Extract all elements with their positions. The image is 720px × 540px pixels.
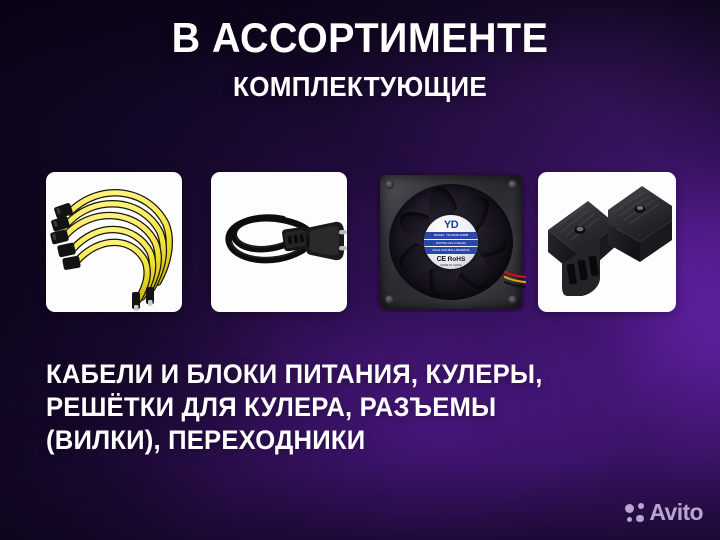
description-block: КАБЕЛИ И БЛОКИ ПИТАНИЯ, КУЛЕРЫ, РЕШЁТКИ … <box>46 358 686 457</box>
pcie-splitter-cables-image <box>46 172 182 312</box>
rohs-mark-icon: RoHS <box>448 256 466 263</box>
fan-origin-text: MADE IN CHINA <box>440 264 461 267</box>
fan-model-text: MODEL: YD12038-4080B <box>424 232 478 239</box>
power-cord-image <box>211 172 347 312</box>
fan-screw-hole <box>385 295 394 304</box>
fan-screw-hole <box>508 295 517 304</box>
fan-screw-hole <box>385 180 394 189</box>
fan-rating-text: RATING:12V 2.5A(2P) <box>424 240 478 247</box>
product-card-row: YD MODEL: YD12038-4080B RATING:12V 2.5A(… <box>46 172 676 312</box>
ce-mark-icon: CE <box>437 256 446 263</box>
description-line: КАБЕЛИ И БЛОКИ ПИТАНИЯ, КУЛЕРЫ, <box>46 358 654 391</box>
iec-connector-bodies-image <box>538 172 676 312</box>
avito-watermark: Avito <box>625 501 703 524</box>
fan-bore: YD MODEL: YD12038-4080B RATING:12V 2.5A(… <box>389 184 513 300</box>
banner-image: В АССОРТИМЕНТЕ КОМПЛЕКТУЮЩИЕ <box>0 0 720 540</box>
fan-power-wires <box>504 264 526 294</box>
fan-frame: YD MODEL: YD12038-4080B RATING:12V 2.5A(… <box>380 175 522 309</box>
fan-certifications: CE RoHS <box>437 256 466 263</box>
description-line: РЕШЁТКИ ДЛЯ КУЛЕРА, РАЗЪЕМЫ <box>46 391 654 424</box>
product-card-fan[interactable]: YD MODEL: YD12038-4080B RATING:12V 2.5A(… <box>376 172 526 312</box>
product-card-connectors[interactable] <box>538 172 676 312</box>
fan-screw-hole <box>508 180 517 189</box>
fan-brand-logo: YD <box>444 220 458 231</box>
product-card-power-cord[interactable] <box>211 172 347 312</box>
fan-type-text: AXIAL FAN BALL BEARING <box>424 247 478 254</box>
page-title: В АССОРТИМЕНТЕ <box>22 16 699 60</box>
avito-logo-icon <box>625 503 644 522</box>
description-line: (ВИЛКИ), ПЕРЕХОДНИКИ <box>46 424 654 457</box>
page-subtitle: КОМПЛЕКТУЮЩИЕ <box>25 72 695 102</box>
heading-block: В АССОРТИМЕНТЕ КОМПЛЕКТУЮЩИЕ <box>0 16 720 102</box>
avito-wordmark: Avito <box>649 501 703 524</box>
fan-hub-label: YD MODEL: YD12038-4080B RATING:12V 2.5A(… <box>424 215 478 269</box>
product-card-cables[interactable] <box>46 172 182 312</box>
